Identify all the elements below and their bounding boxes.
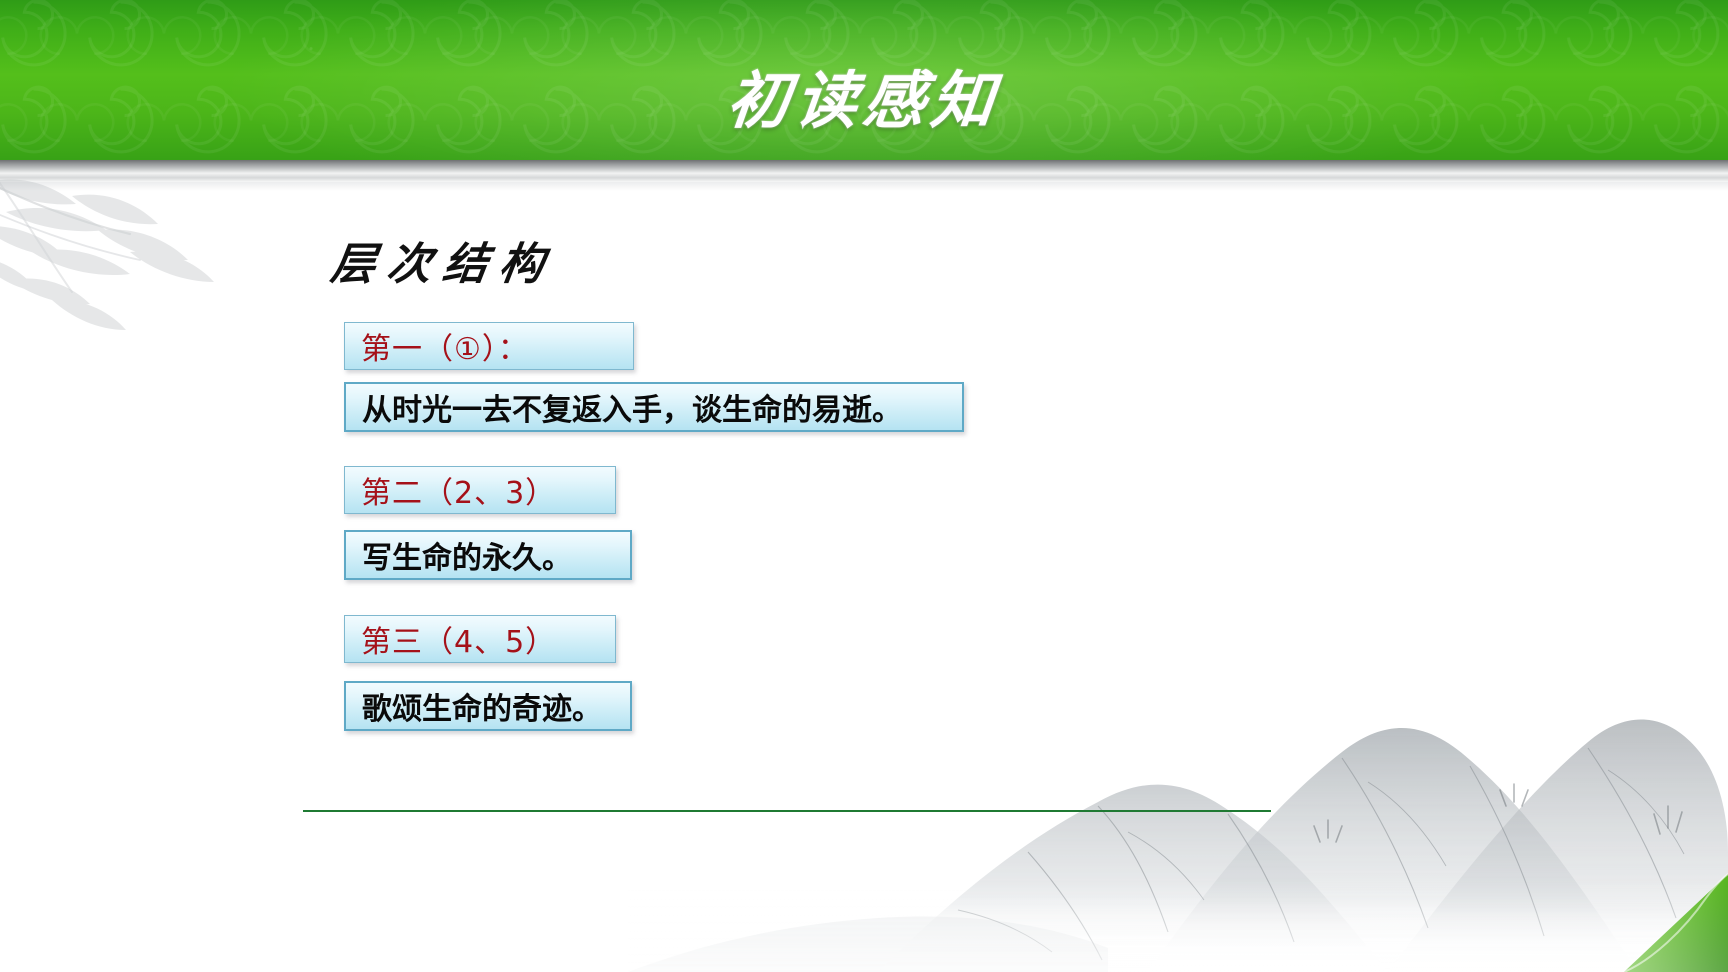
group-text-box-2: 写生命的永久。 [344, 530, 632, 580]
group-label-box-3: 第三（4、5） [344, 615, 616, 663]
horizontal-rule [303, 810, 1271, 812]
ink-bamboo-icon [0, 168, 310, 388]
ink-mountain-icon [628, 642, 1728, 972]
group-label-box-2: 第二（2、3） [344, 466, 616, 514]
slide-canvas: 初读感知 层次结构 第一（①）： 从时光一去不复返入手，谈生命的易逝。 第二（2… [0, 0, 1728, 972]
silver-divider [0, 160, 1728, 182]
group-text-box-3: 歌颂生命的奇迹。 [344, 681, 632, 731]
page-curl-corner-icon [1608, 852, 1728, 972]
section-heading: 层次结构 [328, 228, 561, 292]
group-label-box-1: 第一（①）： [344, 322, 634, 370]
page-title: 初读感知 [0, 50, 1728, 140]
header-banner: 初读感知 [0, 0, 1728, 162]
group-text-box-1: 从时光一去不复返入手，谈生命的易逝。 [344, 382, 964, 432]
